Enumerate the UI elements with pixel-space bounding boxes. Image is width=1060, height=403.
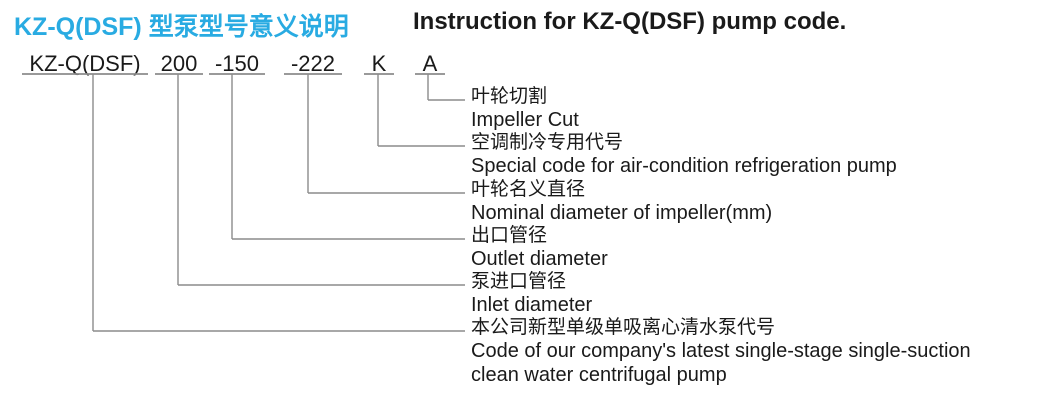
annotation-block: 泵进口管径Inlet diameter xyxy=(471,270,592,317)
annotation-label-english: clean water centrifugal pump xyxy=(471,363,971,387)
annotation-block: 空调制冷专用代号Special code for air-condition r… xyxy=(471,131,897,178)
annotation-label-english: Code of our company's latest single-stag… xyxy=(471,339,971,363)
annotation-label-english: Nominal diameter of impeller(mm) xyxy=(471,201,772,225)
annotation-block: 出口管径Outlet diameter xyxy=(471,224,608,271)
annotation-label-english: Outlet diameter xyxy=(471,247,608,271)
annotation-label-chinese: 叶轮名义直径 xyxy=(471,178,772,201)
annotation-label-english: Impeller Cut xyxy=(471,108,579,132)
annotation-label-chinese: 泵进口管径 xyxy=(471,270,592,293)
annotation-block: 叶轮名义直径Nominal diameter of impeller(mm) xyxy=(471,178,772,225)
annotation-label-english: Inlet diameter xyxy=(471,293,592,317)
annotation-label-chinese: 叶轮切割 xyxy=(471,85,579,108)
annotation-label-chinese: 本公司新型单级单吸离心清水泵代号 xyxy=(471,316,971,339)
annotation-block: 叶轮切割Impeller Cut xyxy=(471,85,579,132)
annotation-label-chinese: 空调制冷专用代号 xyxy=(471,131,897,154)
annotation-label-english: Special code for air-condition refrigera… xyxy=(471,154,897,178)
annotation-label-chinese: 出口管径 xyxy=(471,224,608,247)
pump-code-diagram: KZ-Q(DSF) 型泵型号意义说明 Instruction for KZ-Q(… xyxy=(0,0,1060,403)
annotation-block: 本公司新型单级单吸离心清水泵代号Code of our company's la… xyxy=(471,316,971,387)
